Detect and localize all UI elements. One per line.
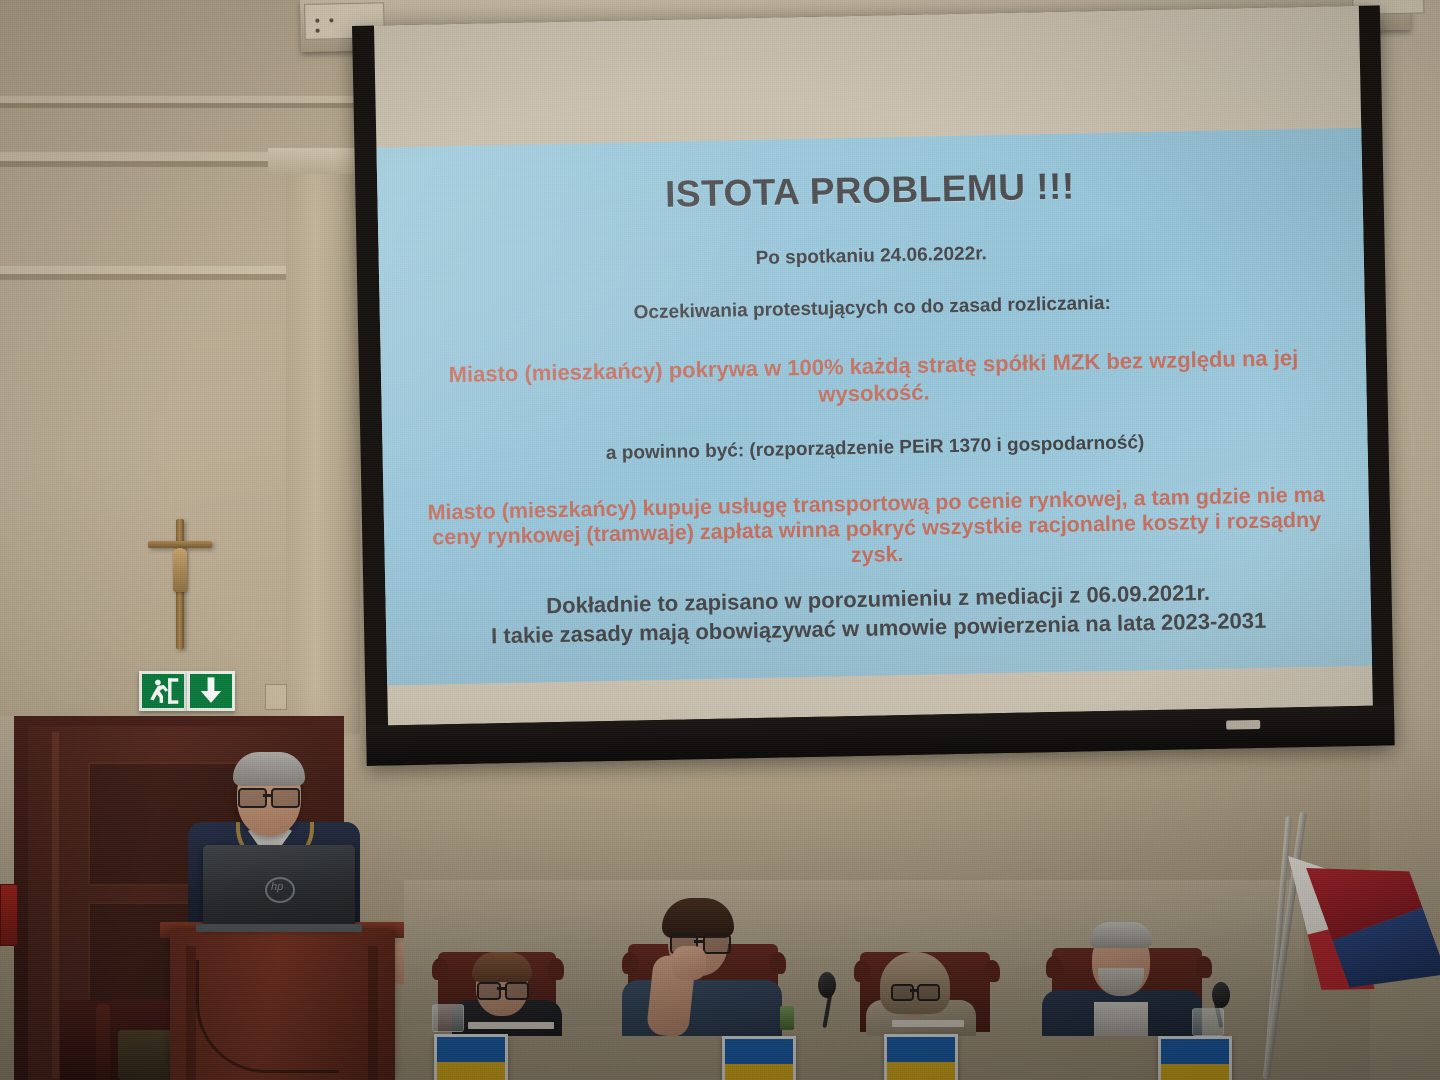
vignette	[0, 0, 1440, 1080]
photo-scene: ISTOTA PROBLEMU !!! Po spotkaniu 24.06.2…	[0, 0, 1440, 1080]
